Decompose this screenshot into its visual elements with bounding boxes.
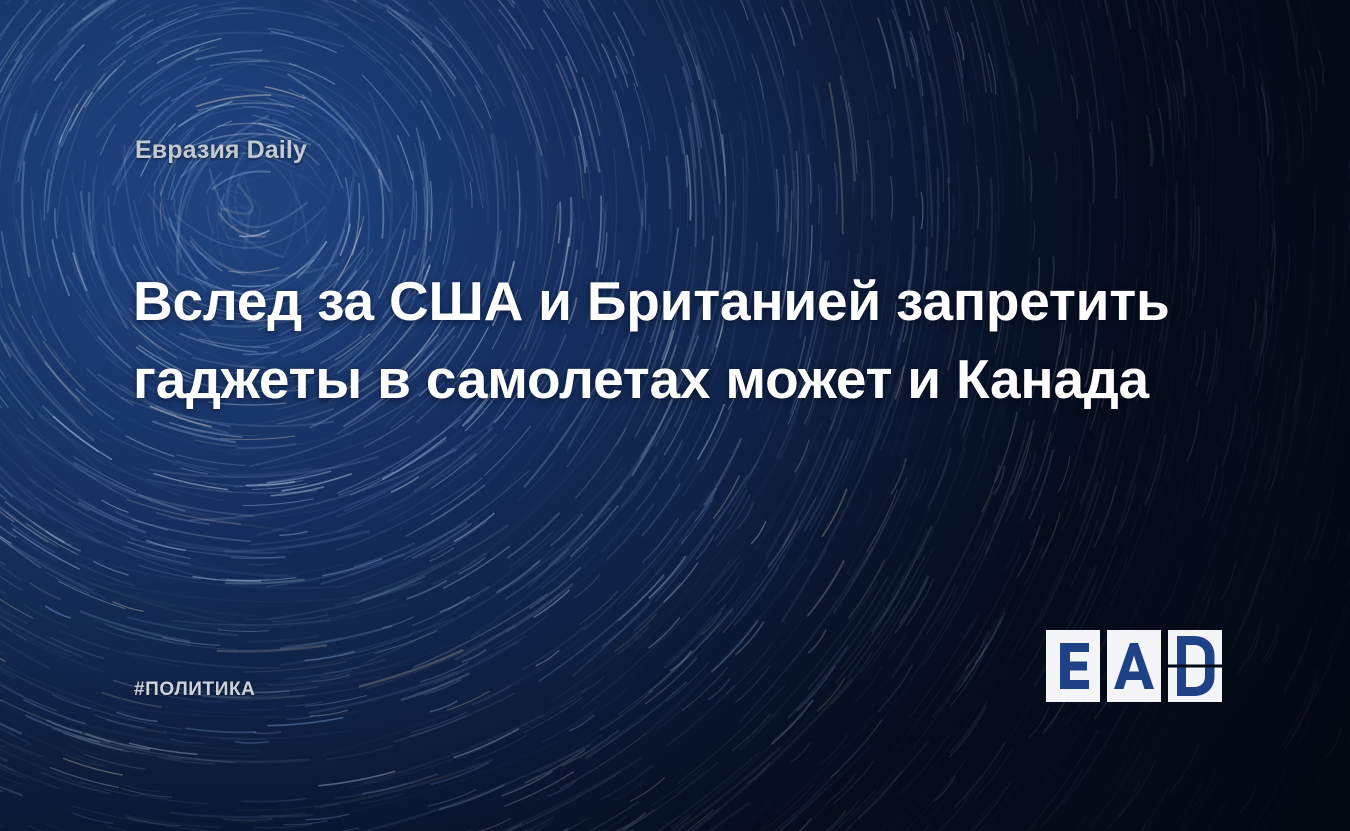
ead-logo-icon: [1046, 630, 1222, 702]
headline: Вслед за США и Британией запретить гадже…: [133, 262, 1203, 418]
ead-logo[interactable]: [1046, 630, 1222, 702]
headline-line-1: Вслед за США и Британией запретить: [133, 262, 1203, 340]
brand-title: Евразия Daily: [135, 136, 307, 165]
card-content: Евразия Daily Вслед за США и Британией з…: [0, 0, 1350, 831]
news-card: Евразия Daily Вслед за США и Британией з…: [0, 0, 1350, 831]
headline-line-2: гаджеты в самолетах может и Канада: [133, 340, 1203, 418]
category-tag[interactable]: #ПОЛИТИКА: [134, 679, 256, 701]
